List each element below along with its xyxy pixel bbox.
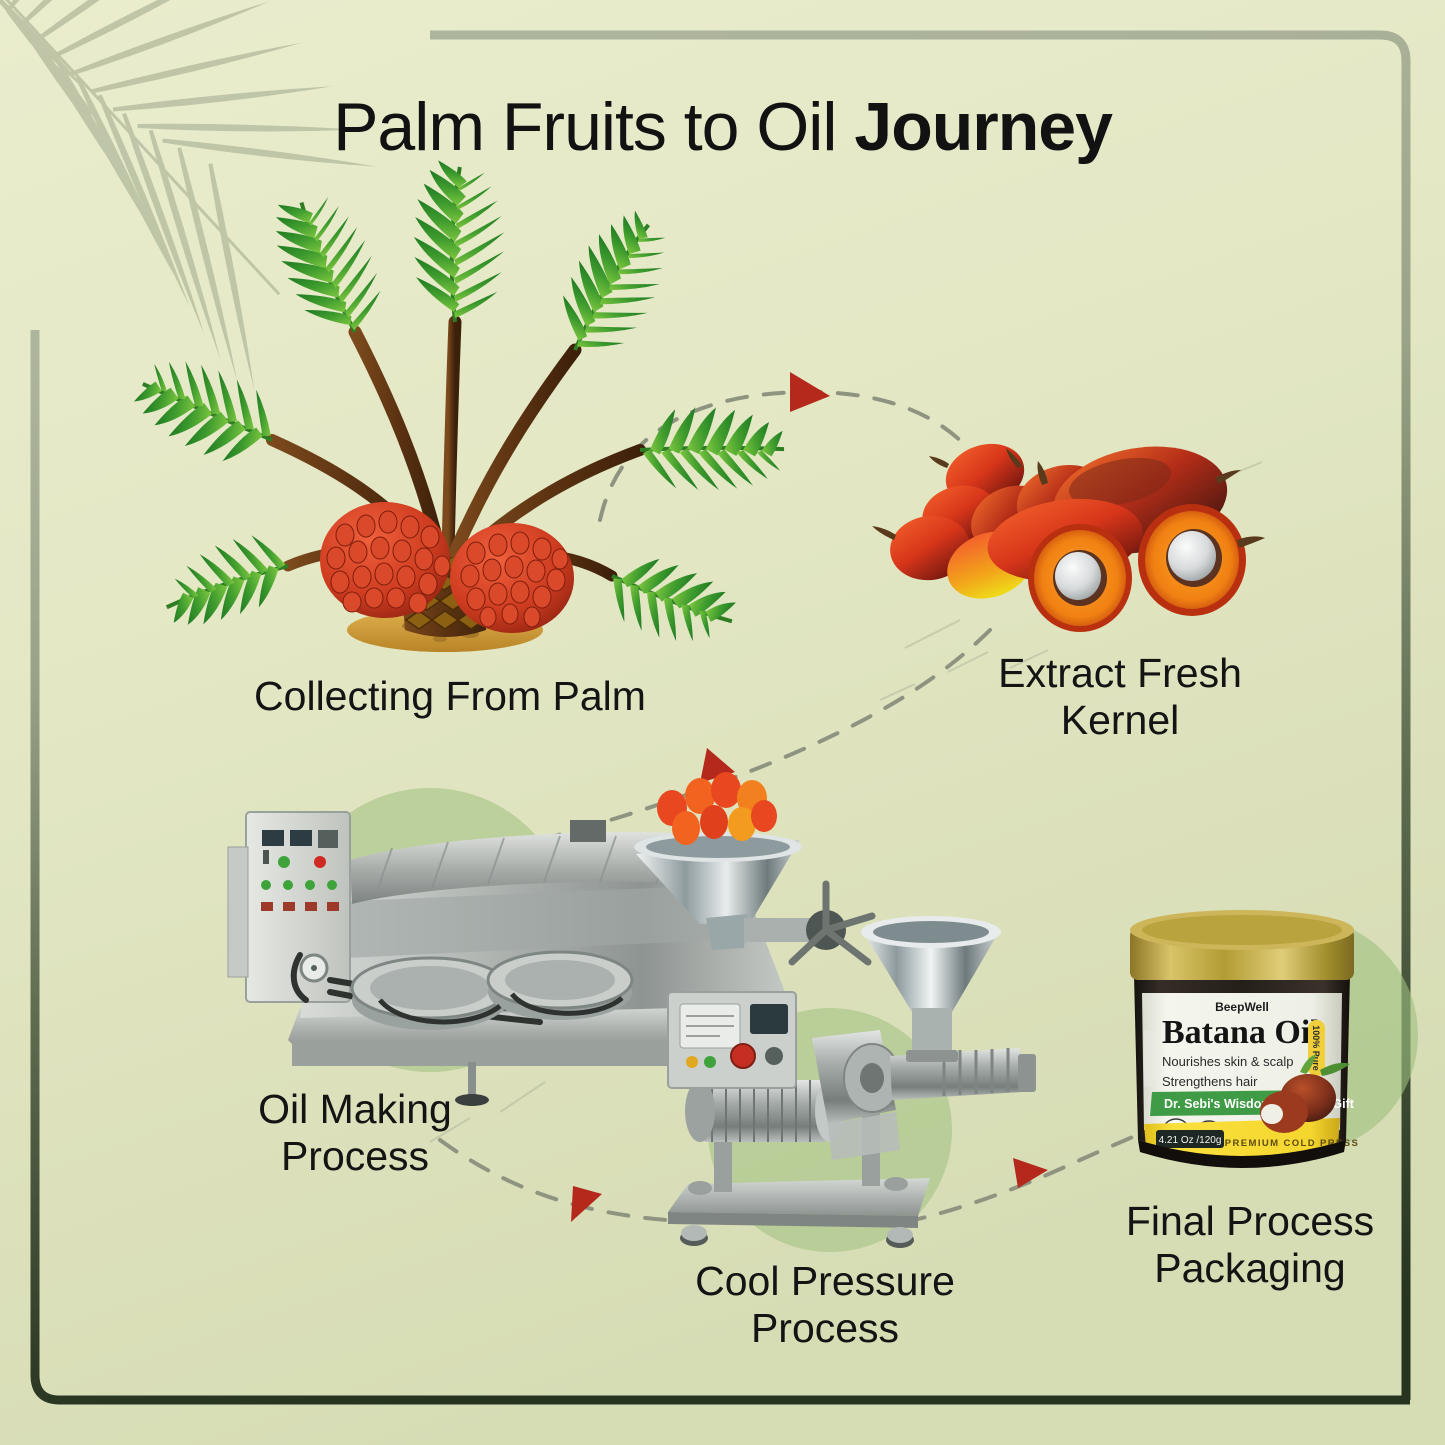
svg-text:4.21 Oz /120g: 4.21 Oz /120g [1159, 1135, 1222, 1146]
jar-benefit-2: Strengthens hair [1162, 1074, 1258, 1089]
svg-text:100% Pure: 100% Pure [1311, 1025, 1321, 1071]
page-title-plain: Palm Fruits to Oil [333, 89, 854, 165]
page-title-bold: Journey [854, 89, 1112, 165]
jar-product-name: Batana Oil [1162, 1014, 1320, 1051]
jar-side-ingredient-text [1144, 1030, 1156, 1086]
step-label-final-process-packaging: Final Process Packaging [1060, 1198, 1440, 1292]
batana-oil-jar: BeepWell Batana Oil 100% Pure Nourishes … [1130, 910, 1359, 1168]
jar-net-weight: 4.21 Oz /120g [1156, 1130, 1224, 1148]
jar-benefit-1: Nourishes skin & scalp [1162, 1054, 1294, 1069]
jar-brand-text: BeepWell [1215, 1000, 1269, 1014]
step-label-oil-making-process: Oil Making Process [175, 1086, 535, 1180]
step-label-extract-fresh-kernel: Extract Fresh Kernel [935, 650, 1305, 744]
step-label-collecting-from-palm: Collecting From Palm [150, 673, 750, 720]
infographic-canvas: BeepWell Batana Oil 100% Pure Nourishes … [0, 0, 1445, 1445]
page-title: Palm Fruits to Oil Journey [0, 88, 1445, 166]
step-label-cool-pressure-process: Cool Pressure Process [640, 1258, 1010, 1352]
